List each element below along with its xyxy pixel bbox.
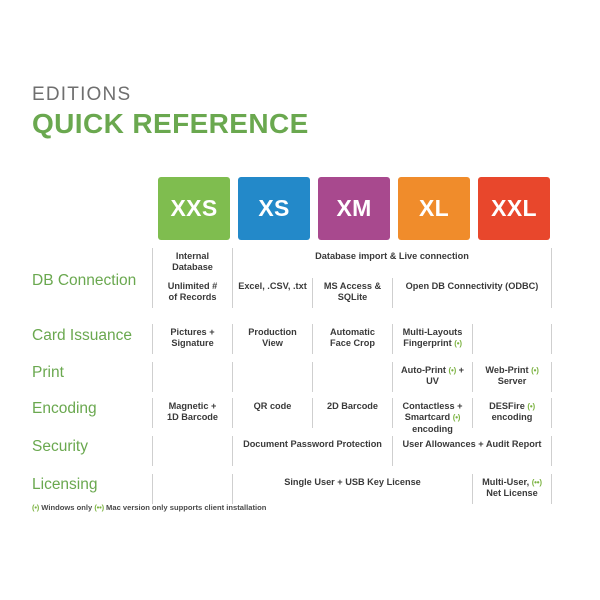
feature-cell: Magnetic +1D Barcode xyxy=(152,398,232,428)
feature-cell xyxy=(152,474,232,504)
feature-cell-text: Single User + USB Key License xyxy=(284,477,421,488)
platform-marker: (•) xyxy=(453,413,461,422)
feature-row: DB ConnectionInternalDatabaseDatabase im… xyxy=(0,248,600,324)
edition-badge-label: XL xyxy=(419,195,449,222)
feature-cell-text: AutomaticFace Crop xyxy=(330,327,375,350)
title-main: QUICK REFERENCE xyxy=(32,108,309,140)
feature-cell-text: Web-Print (•)Server xyxy=(485,365,538,388)
feature-row-cells: Pictures +SignatureProductionViewAutomat… xyxy=(152,324,552,362)
feature-cell-text: InternalDatabase xyxy=(172,251,213,274)
feature-cell-text: Open DB Connectivity (ODBC) xyxy=(406,281,539,292)
feature-cell: Multi-User, (••)Net License xyxy=(472,474,552,504)
feature-row-label-encoding: Encoding xyxy=(32,400,97,418)
edition-badge-xl[interactable]: XL xyxy=(398,177,470,240)
feature-cell: Open DB Connectivity (ODBC) xyxy=(392,278,552,308)
feature-row-label-card-issuance: Card Issuance xyxy=(32,327,132,345)
feature-row: SecurityDocument Password ProtectionUser… xyxy=(0,436,600,474)
page-title: EDITIONS QUICK REFERENCE xyxy=(32,84,309,140)
feature-cell xyxy=(232,362,312,392)
edition-badge-row: XXSXSXMXLXXL xyxy=(158,177,552,240)
edition-badge-xxs[interactable]: XXS xyxy=(158,177,230,240)
feature-cell xyxy=(152,362,232,392)
feature-cell: Contactless +Smartcard (•)encoding xyxy=(392,398,472,428)
feature-cell: QR code xyxy=(232,398,312,428)
feature-cell: MS Access &SQLite xyxy=(312,278,392,308)
feature-row: Card IssuancePictures +SignatureProducti… xyxy=(0,324,600,362)
platform-marker: (••) xyxy=(532,478,542,487)
edition-badge-xxl[interactable]: XXL xyxy=(478,177,550,240)
feature-cell: Document Password Protection xyxy=(232,436,392,466)
feature-cell-text: Contactless +Smartcard (•)encoding xyxy=(403,401,463,435)
feature-row: PrintAuto-Print (•) +UVWeb-Print (•)Serv… xyxy=(0,362,600,398)
feature-row: EncodingMagnetic +1D BarcodeQR code2D Ba… xyxy=(0,398,600,436)
feature-cell xyxy=(472,324,552,354)
feature-cell-text: MS Access &SQLite xyxy=(324,281,381,304)
platform-marker: (•) xyxy=(527,402,535,411)
edition-badge-xs[interactable]: XS xyxy=(238,177,310,240)
feature-row-cells: Magnetic +1D BarcodeQR code2D BarcodeCon… xyxy=(152,398,552,436)
feature-row-label-print: Print xyxy=(32,364,64,382)
feature-cell-text: Unlimited #of Records xyxy=(168,281,218,304)
feature-cell: Multi-LayoutsFingerprint (•) xyxy=(392,324,472,354)
edition-badge-label: XXL xyxy=(491,195,537,222)
feature-cell-text: 2D Barcode xyxy=(327,401,378,412)
feature-cell: AutomaticFace Crop xyxy=(312,324,392,354)
feature-cell-text: Database import & Live connection xyxy=(315,251,469,262)
feature-cell: Pictures +Signature xyxy=(152,324,232,354)
feature-cell-text: DESFire (•)encoding xyxy=(489,401,535,424)
feature-row-label-security: Security xyxy=(32,438,88,456)
feature-row-label-licensing: Licensing xyxy=(32,476,98,494)
feature-cell: User Allowances + Audit Report xyxy=(392,436,552,466)
platform-marker: (•) xyxy=(32,503,39,512)
platform-marker: (••) xyxy=(94,503,104,512)
feature-cell: Auto-Print (•) +UV xyxy=(392,362,472,392)
feature-cell-text: QR code xyxy=(254,401,292,412)
feature-cell-text: Excel, .CSV, .txt xyxy=(238,281,307,292)
feature-cell xyxy=(152,436,232,466)
quick-reference-page: EDITIONS QUICK REFERENCE XXSXSXMXLXXL DB… xyxy=(0,0,600,600)
platform-marker: (•) xyxy=(454,339,462,348)
edition-badge-label: XXS xyxy=(171,195,218,222)
feature-cell: Database import & Live connection xyxy=(232,248,552,278)
feature-cell: Unlimited #of Records xyxy=(152,278,232,308)
footnote: (•) Windows only (••) Mac version only s… xyxy=(32,503,266,513)
feature-cell-text: Auto-Print (•) +UV xyxy=(401,365,464,388)
feature-cell: InternalDatabase xyxy=(152,248,232,278)
edition-badge-xm[interactable]: XM xyxy=(318,177,390,240)
title-eyebrow: EDITIONS xyxy=(32,84,309,106)
platform-marker: (•) xyxy=(449,366,457,375)
feature-cell-text: Magnetic +1D Barcode xyxy=(167,401,218,424)
feature-cell-text: Multi-User, (••)Net License xyxy=(482,477,542,500)
feature-row-cells: Document Password ProtectionUser Allowan… xyxy=(152,436,552,474)
feature-cell: ProductionView xyxy=(232,324,312,354)
edition-badge-label: XS xyxy=(258,195,289,222)
feature-cell xyxy=(312,362,392,392)
edition-badge-label: XM xyxy=(336,195,371,222)
feature-row-cells: Auto-Print (•) +UVWeb-Print (•)Server xyxy=(152,362,552,398)
platform-marker: (•) xyxy=(531,366,539,375)
feature-cell-text: Document Password Protection xyxy=(243,439,382,450)
feature-cell-text: Pictures +Signature xyxy=(170,327,214,350)
feature-row-label-db-connection: DB Connection xyxy=(32,272,136,290)
feature-cell: Excel, .CSV, .txt xyxy=(232,278,312,308)
feature-cell-text: Multi-LayoutsFingerprint (•) xyxy=(403,327,463,350)
feature-cell: DESFire (•)encoding xyxy=(472,398,552,428)
feature-cell-text: ProductionView xyxy=(248,327,297,350)
feature-cell: Single User + USB Key License xyxy=(232,474,472,504)
feature-cell: 2D Barcode xyxy=(312,398,392,428)
feature-cell-text: User Allowances + Audit Report xyxy=(403,439,542,450)
feature-row-cells: InternalDatabaseDatabase import & Live c… xyxy=(152,248,552,324)
feature-cell: Web-Print (•)Server xyxy=(472,362,552,392)
